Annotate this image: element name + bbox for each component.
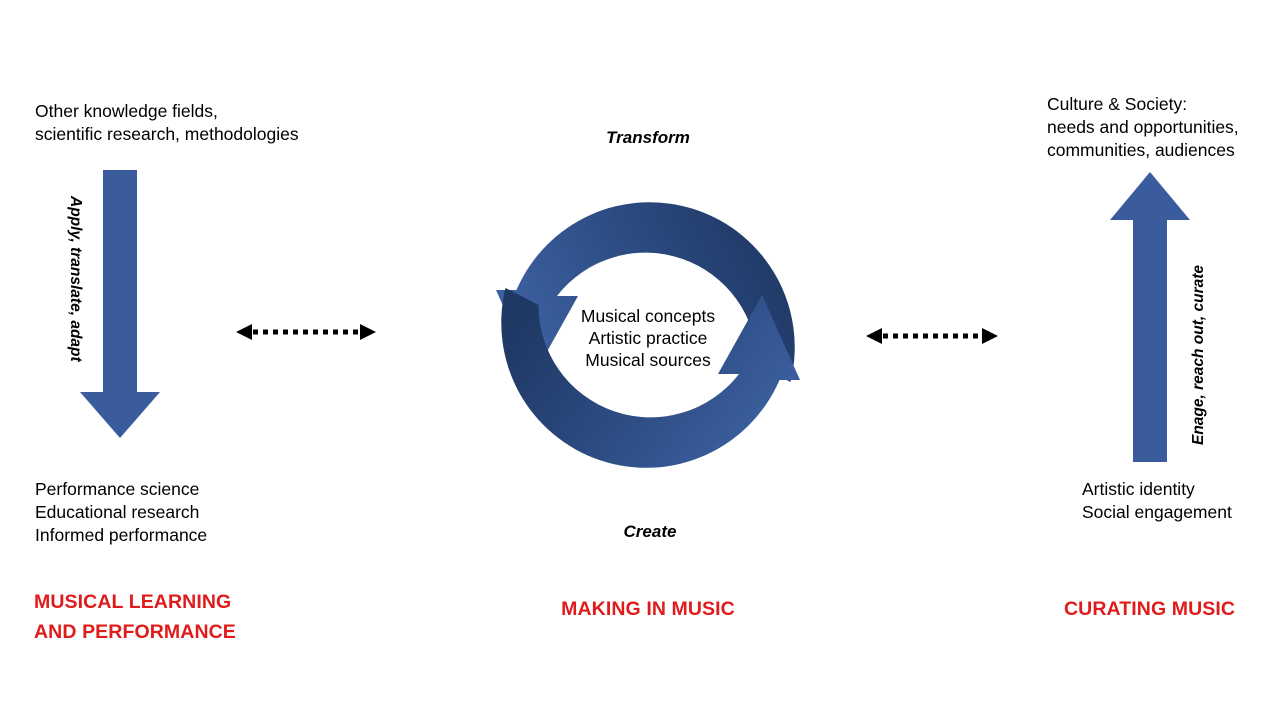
left-bottom-text: Performance science Educational research…	[35, 478, 335, 546]
right-arrow-caption: Enage, reach out, curate	[1190, 265, 1208, 445]
right-bottom-text: Artistic identity Social engagement	[1082, 478, 1280, 524]
right-heading: CURATING MUSIC	[1064, 594, 1280, 624]
connector-right	[866, 324, 998, 348]
cycle-top-label: Transform	[548, 128, 748, 148]
cycle-bottom-label: Create	[550, 522, 750, 542]
connector-left	[236, 320, 376, 344]
left-top-text: Other knowledge fields, scientific resea…	[35, 100, 365, 146]
center-heading: MAKING IN MUSIC	[498, 594, 798, 624]
right-up-arrow	[1110, 172, 1200, 462]
left-arrow-caption: Apply, translate, adapt	[66, 196, 84, 362]
cycle-inner-text: Musical concepts Artistic practice Music…	[548, 305, 748, 372]
left-heading: MUSICAL LEARNING AND PERFORMANCE	[34, 587, 364, 647]
diagram-canvas: Other knowledge fields, scientific resea…	[0, 0, 1280, 720]
right-top-text: Culture & Society: needs and opportuniti…	[1047, 93, 1280, 161]
left-down-arrow	[80, 170, 170, 470]
